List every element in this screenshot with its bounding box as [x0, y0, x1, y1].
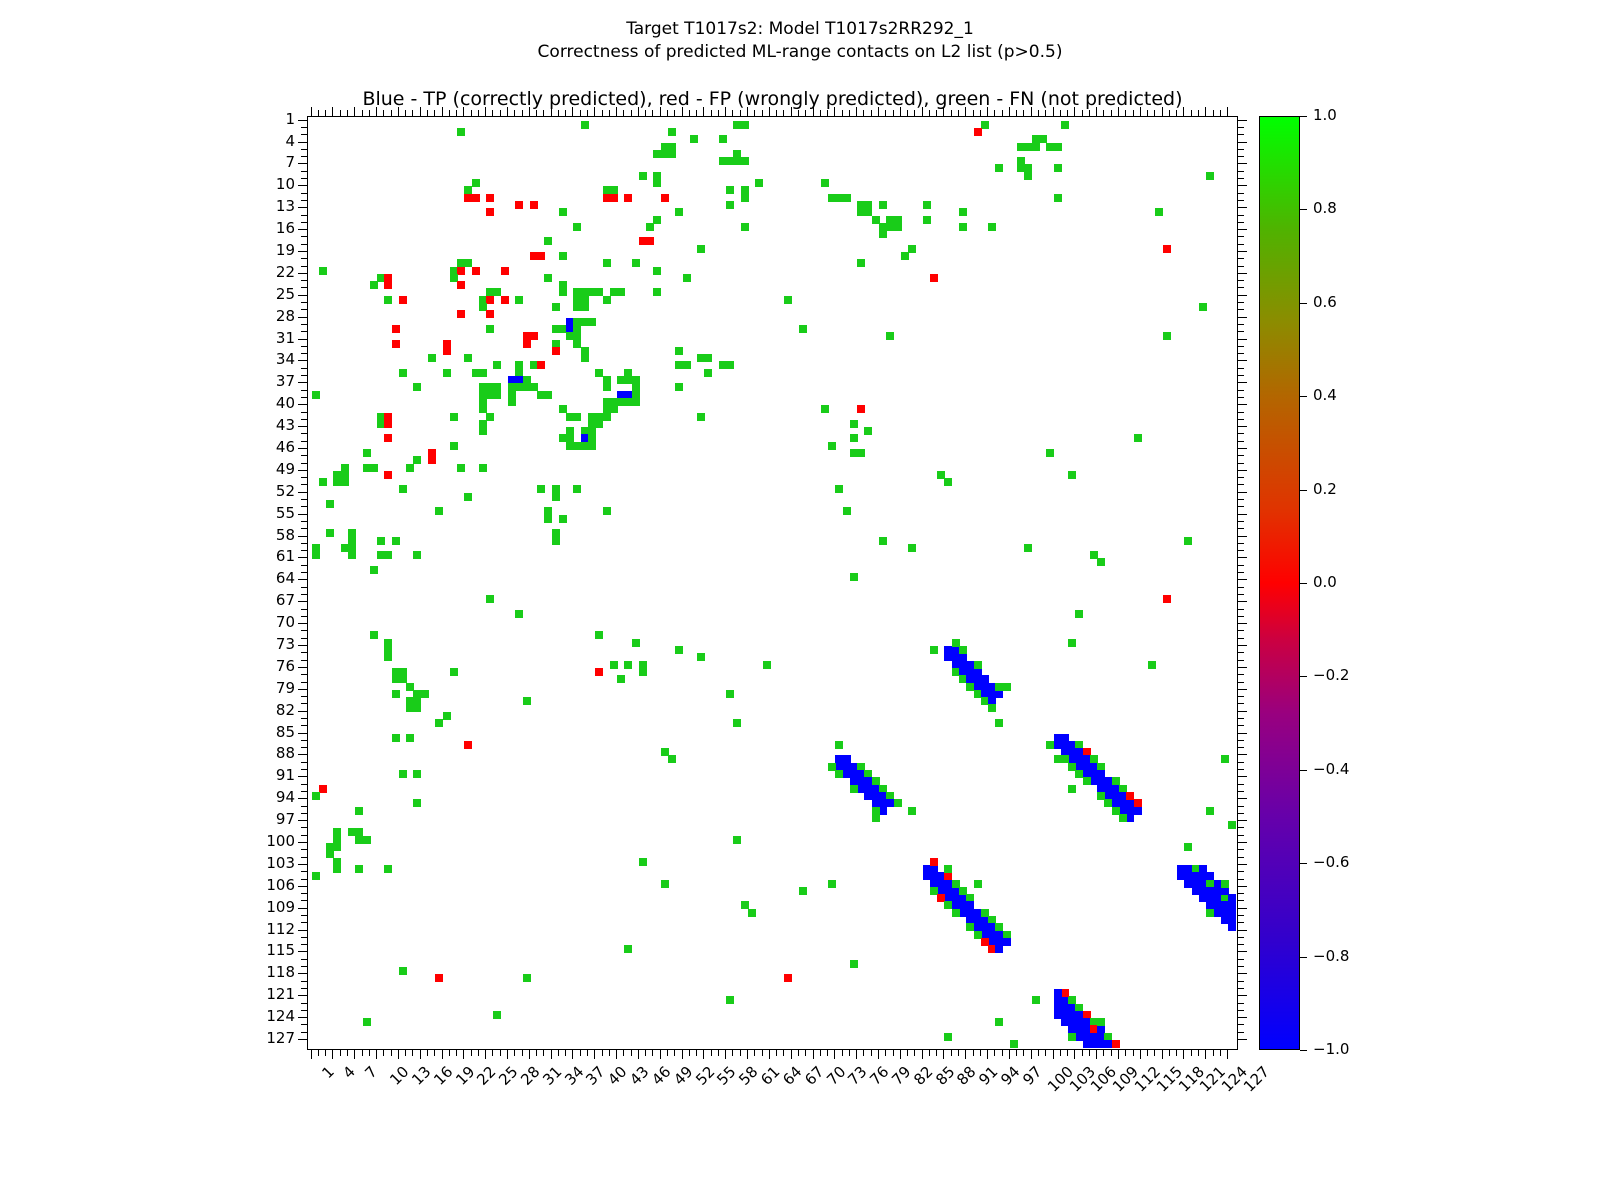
x-tick	[820, 1050, 821, 1056]
contact-cell	[370, 281, 378, 289]
y-tick-right	[1238, 185, 1247, 186]
y-tick	[301, 193, 307, 194]
y-axis-tick-label: 124	[175, 1009, 307, 1024]
contact-cell	[1221, 880, 1229, 888]
x-tick-top	[958, 110, 959, 116]
contact-cell	[646, 237, 654, 245]
contact-cell	[733, 719, 741, 727]
x-tick-top	[558, 110, 559, 116]
x-tick	[412, 1050, 413, 1056]
y-tick-right	[1238, 426, 1247, 427]
x-tick	[740, 1050, 741, 1056]
contact-cell	[544, 391, 552, 399]
contact-cell	[493, 391, 501, 399]
x-tick-top	[987, 107, 988, 116]
y-tick	[301, 937, 307, 938]
contact-cell	[603, 259, 611, 267]
y-tick-right	[1238, 302, 1244, 303]
x-tick-top	[798, 110, 799, 116]
y-axis-tick-label: 4	[175, 134, 307, 149]
x-tick	[907, 1050, 908, 1056]
y-tick	[301, 258, 307, 259]
y-tick-right	[1238, 900, 1244, 901]
contact-cell	[1199, 865, 1207, 873]
x-tick	[1154, 1050, 1155, 1056]
y-tick-right	[1238, 441, 1244, 442]
colorbar-tick	[1300, 303, 1307, 304]
contact-cell	[479, 427, 487, 435]
y-tick-right	[1238, 703, 1244, 704]
contact-cell	[523, 383, 531, 391]
y-axis-tick-label: 106	[175, 878, 307, 893]
figure-title-block: Target T1017s2: Model T1017s2RR292_1 Cor…	[0, 18, 1600, 64]
contact-cell	[1134, 434, 1142, 442]
contact-cell	[726, 690, 734, 698]
contact-cell	[1148, 661, 1156, 669]
contact-cell	[457, 464, 465, 472]
x-tick	[1162, 1050, 1163, 1059]
x-tick	[827, 1050, 828, 1056]
contact-cell	[457, 267, 465, 275]
contact-cell	[530, 201, 538, 209]
contact-cell	[850, 960, 858, 968]
y-tick-right	[1238, 886, 1247, 887]
contact-cell	[443, 347, 451, 355]
contact-cell	[1046, 741, 1054, 749]
contact-cell	[581, 354, 589, 362]
y-tick-right	[1238, 360, 1247, 361]
contact-cell	[668, 128, 676, 136]
x-tick-top	[1082, 110, 1083, 116]
y-tick	[301, 718, 307, 719]
y-tick-right	[1238, 419, 1244, 420]
y-axis-tick-label: 37	[175, 374, 307, 389]
y-axis-tick-label: 70	[175, 615, 307, 630]
contact-cell	[988, 704, 996, 712]
x-tick-top	[427, 110, 428, 116]
x-tick	[442, 1050, 443, 1059]
y-tick-right	[1238, 193, 1244, 194]
contact-cell	[399, 770, 407, 778]
contact-cell	[828, 442, 836, 450]
contact-cell	[370, 566, 378, 574]
contact-cell	[399, 369, 407, 377]
x-tick	[914, 1050, 915, 1056]
x-tick-top	[1133, 110, 1134, 116]
x-tick-top	[332, 107, 333, 116]
y-axis-tick-label: 76	[175, 659, 307, 674]
x-tick-top	[594, 107, 595, 116]
y-tick-right	[1238, 339, 1247, 340]
y-tick-right	[1238, 448, 1247, 449]
contact-cell	[1112, 777, 1120, 785]
contact-cell	[479, 464, 487, 472]
y-tick-right	[1238, 915, 1244, 916]
y-tick-right	[1238, 995, 1247, 996]
contact-cell	[784, 974, 792, 982]
contact-cell	[843, 507, 851, 515]
y-tick	[301, 609, 307, 610]
y-tick-right	[1238, 988, 1244, 989]
x-tick-top	[340, 110, 341, 116]
y-tick-right	[1238, 944, 1244, 945]
contact-cell	[668, 755, 676, 763]
y-tick	[301, 280, 307, 281]
contact-cell	[959, 646, 967, 654]
contact-cell	[1068, 639, 1076, 647]
y-tick-right	[1238, 470, 1247, 471]
y-tick-right	[1238, 222, 1244, 223]
x-tick	[376, 1050, 377, 1059]
contact-cell	[1083, 1040, 1091, 1048]
contact-cell	[443, 712, 451, 720]
y-tick-right	[1238, 404, 1247, 405]
contact-cell	[704, 369, 712, 377]
contact-cell	[588, 318, 596, 326]
x-tick	[798, 1050, 799, 1056]
y-tick-right	[1238, 733, 1247, 734]
colorbar-tick	[1300, 583, 1307, 584]
contact-cell	[886, 332, 894, 340]
x-tick	[347, 1050, 348, 1056]
x-tick	[332, 1050, 333, 1059]
x-axis-tick-label: 4	[341, 1064, 358, 1081]
contact-cell	[1054, 164, 1062, 172]
x-tick	[485, 1050, 486, 1059]
contact-cell	[501, 296, 509, 304]
x-tick	[834, 1050, 835, 1059]
y-tick-right	[1238, 499, 1244, 500]
contact-cell	[559, 252, 567, 260]
x-tick-top	[965, 107, 966, 116]
contact-cell	[326, 500, 334, 508]
x-tick-top	[1002, 110, 1003, 116]
contact-cell	[799, 887, 807, 895]
x-tick-top	[565, 110, 566, 116]
y-tick-right	[1238, 930, 1247, 931]
contact-cell	[523, 340, 531, 348]
contact-cell	[552, 493, 560, 501]
y-tick-right	[1238, 528, 1244, 529]
x-tick	[1096, 1050, 1097, 1059]
y-tick-right	[1238, 784, 1244, 785]
colorbar-tick	[1300, 396, 1307, 397]
x-tick	[1031, 1050, 1032, 1059]
x-tick	[492, 1050, 493, 1056]
x-axis-tick-label: 7	[363, 1064, 380, 1081]
contact-cell	[1068, 471, 1076, 479]
contact-cell	[595, 420, 603, 428]
contact-cell	[923, 201, 931, 209]
x-tick-top	[602, 110, 603, 116]
contact-cell	[486, 413, 494, 421]
contact-cell	[1061, 989, 1069, 997]
y-tick-right	[1238, 806, 1244, 807]
contact-cell	[1206, 807, 1214, 815]
x-tick	[1198, 1050, 1199, 1056]
x-tick-top	[1103, 110, 1104, 116]
contact-cell	[1228, 923, 1236, 931]
y-tick-right	[1238, 353, 1244, 354]
y-tick-right	[1238, 864, 1247, 865]
contact-cell	[1075, 610, 1083, 618]
y-tick-right	[1238, 857, 1244, 858]
contact-cell	[392, 340, 400, 348]
y-axis-tick-label: 115	[175, 943, 307, 958]
contact-cell	[741, 121, 749, 129]
y-tick-right	[1238, 1039, 1247, 1040]
y-axis-tick-label: 46	[175, 440, 307, 455]
y-tick	[301, 740, 307, 741]
x-tick-top	[362, 110, 363, 116]
contact-cell	[384, 653, 392, 661]
y-tick-right	[1238, 835, 1244, 836]
contact-cell	[726, 996, 734, 1004]
x-axis-tick-label: 1	[319, 1064, 336, 1081]
x-tick	[689, 1050, 690, 1056]
x-tick-top	[980, 110, 981, 116]
y-tick	[301, 806, 307, 807]
contact-cell	[944, 865, 952, 873]
x-tick-top	[354, 107, 355, 116]
x-tick-top	[893, 110, 894, 116]
x-tick	[660, 1050, 661, 1059]
contact-cell	[675, 383, 683, 391]
x-tick-top	[929, 110, 930, 116]
x-tick	[405, 1050, 406, 1056]
contact-cell	[1119, 814, 1127, 822]
colorbar-tick	[1300, 676, 1307, 677]
contact-cell	[493, 1011, 501, 1019]
y-tick-right	[1238, 331, 1244, 332]
contact-cell	[450, 413, 458, 421]
x-tick-top	[376, 107, 377, 116]
contact-cell	[1199, 303, 1207, 311]
x-tick	[1205, 1050, 1206, 1059]
contact-cell	[632, 398, 640, 406]
contact-cell	[1155, 208, 1163, 216]
contact-cell	[384, 296, 392, 304]
x-tick	[463, 1050, 464, 1059]
legend-text: Blue - TP (correctly predicted), red - F…	[307, 88, 1238, 110]
x-tick	[1227, 1050, 1228, 1059]
contact-cell	[312, 872, 320, 880]
y-axis-tick-label: 55	[175, 506, 307, 521]
contact-cell	[523, 376, 531, 384]
contact-cell	[413, 551, 421, 559]
contact-cell	[930, 858, 938, 866]
colorbar-tick	[1300, 1050, 1307, 1051]
contact-cell	[537, 485, 545, 493]
x-tick	[885, 1050, 886, 1056]
x-tick	[514, 1050, 515, 1056]
x-tick	[1118, 1050, 1119, 1059]
x-tick	[980, 1050, 981, 1056]
x-tick	[543, 1050, 544, 1056]
contact-cell	[741, 194, 749, 202]
contact-cell	[508, 398, 516, 406]
x-tick-top	[813, 107, 814, 116]
contact-cell	[515, 296, 523, 304]
y-tick-right	[1238, 134, 1244, 135]
contact-cell	[835, 485, 843, 493]
x-tick	[594, 1050, 595, 1059]
x-tick	[856, 1050, 857, 1059]
y-tick-right	[1238, 477, 1244, 478]
contact-cell	[406, 734, 414, 742]
x-tick-top	[1169, 110, 1170, 116]
x-tick-top	[762, 110, 763, 116]
contact-cell	[646, 223, 654, 231]
x-tick-top	[769, 107, 770, 116]
x-tick-top	[572, 107, 573, 116]
y-tick-right	[1238, 601, 1247, 602]
contact-cell	[872, 814, 880, 822]
colorbar-tick-label: −0.2	[1313, 668, 1349, 683]
x-tick-top	[1125, 110, 1126, 116]
y-tick-right	[1238, 178, 1244, 179]
contact-cell	[704, 354, 712, 362]
contact-cell	[632, 259, 640, 267]
y-axis-tick-label: 82	[175, 703, 307, 718]
contact-cell	[1068, 785, 1076, 793]
x-tick	[609, 1050, 610, 1056]
x-tick	[311, 1050, 312, 1059]
contact-cell	[392, 325, 400, 333]
x-tick	[631, 1050, 632, 1056]
y-tick-right	[1238, 251, 1247, 252]
contact-cell	[319, 478, 327, 486]
contact-cell	[501, 267, 509, 275]
contact-cell	[472, 369, 480, 377]
contact-cell	[675, 646, 683, 654]
y-tick-right	[1238, 514, 1247, 515]
y-tick-right	[1238, 871, 1244, 872]
contact-cell	[544, 274, 552, 282]
colorbar-tick-label: 0.4	[1313, 388, 1337, 403]
contact-cell	[493, 361, 501, 369]
contact-cell	[1083, 777, 1091, 785]
x-tick-top	[434, 110, 435, 116]
y-axis-tick-label: 49	[175, 462, 307, 477]
contact-cell	[464, 354, 472, 362]
x-tick-top	[478, 110, 479, 116]
x-tick-top	[1067, 110, 1068, 116]
x-tick	[769, 1050, 770, 1059]
x-tick-top	[580, 110, 581, 116]
contact-cell	[486, 310, 494, 318]
y-tick	[301, 302, 307, 303]
y-tick-right	[1238, 346, 1244, 347]
contact-cell	[392, 734, 400, 742]
x-tick	[682, 1050, 683, 1059]
x-tick	[776, 1050, 777, 1056]
y-axis-tick-label: 109	[175, 900, 307, 915]
x-tick	[987, 1050, 988, 1059]
x-tick-top	[442, 107, 443, 116]
y-tick-right	[1238, 645, 1247, 646]
colorbar-tick-label: −0.4	[1313, 762, 1349, 777]
x-tick	[1176, 1050, 1177, 1056]
y-tick-right	[1238, 455, 1244, 456]
x-tick-top	[849, 110, 850, 116]
contact-cell	[1228, 894, 1236, 902]
contact-cell	[312, 792, 320, 800]
contact-cell	[864, 427, 872, 435]
contact-cell	[879, 537, 887, 545]
x-tick-top	[1031, 107, 1032, 116]
y-tick	[301, 390, 307, 391]
contact-cell	[472, 194, 480, 202]
x-tick-top	[616, 107, 617, 116]
y-tick-right	[1238, 163, 1247, 164]
x-tick-top	[660, 107, 661, 116]
contact-cell	[399, 967, 407, 975]
contact-cell	[603, 507, 611, 515]
y-tick-right	[1238, 769, 1244, 770]
x-tick	[732, 1050, 733, 1056]
x-tick	[325, 1050, 326, 1056]
y-tick-right	[1238, 484, 1244, 485]
y-tick	[301, 412, 307, 413]
y-tick	[301, 674, 307, 675]
y-axis-tick-label: 1	[175, 112, 307, 127]
colorbar-tick	[1300, 957, 1307, 958]
y-tick-right	[1238, 565, 1244, 566]
contact-cell	[1003, 938, 1011, 946]
contact-cell	[726, 361, 734, 369]
x-tick	[1002, 1050, 1003, 1056]
contact-cell	[333, 865, 341, 873]
figure-title-line-2: Correctness of predicted ML-range contac…	[0, 41, 1600, 64]
contact-cell	[850, 420, 858, 428]
contact-cell	[697, 653, 705, 661]
x-tick	[427, 1050, 428, 1056]
x-tick-top	[1053, 107, 1054, 116]
y-tick	[301, 127, 307, 128]
contact-cell	[595, 631, 603, 639]
y-tick-right	[1238, 849, 1244, 850]
y-tick-right	[1238, 718, 1244, 719]
y-tick-right	[1238, 711, 1247, 712]
contact-cell	[901, 252, 909, 260]
contact-cell	[392, 690, 400, 698]
x-tick-top	[383, 110, 384, 116]
x-tick	[878, 1050, 879, 1059]
y-tick	[301, 849, 307, 850]
y-tick-right	[1238, 638, 1244, 639]
y-tick-right	[1238, 295, 1247, 296]
x-tick-top	[1045, 110, 1046, 116]
x-tick-top	[1176, 110, 1177, 116]
contact-cell	[581, 303, 589, 311]
contact-cell	[857, 405, 865, 413]
contact-cell	[959, 223, 967, 231]
contact-cell	[413, 770, 421, 778]
contact-cell	[974, 880, 982, 888]
y-axis-tick-label: 127	[175, 1031, 307, 1046]
y-tick-right	[1238, 149, 1244, 150]
contact-cell	[370, 464, 378, 472]
contact-cell	[995, 719, 1003, 727]
x-tick	[958, 1050, 959, 1056]
contact-cell	[1032, 143, 1040, 151]
x-tick	[478, 1050, 479, 1056]
y-tick-right	[1238, 127, 1244, 128]
y-tick-right	[1238, 813, 1244, 814]
contact-cell	[748, 909, 756, 917]
x-tick	[813, 1050, 814, 1059]
